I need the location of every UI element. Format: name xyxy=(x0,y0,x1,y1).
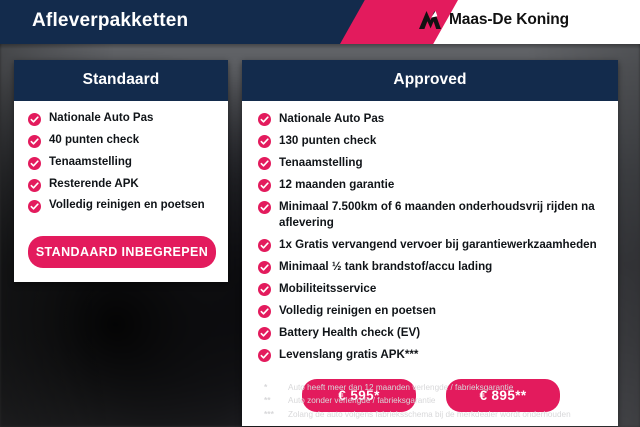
approved-feature-item: 1x Gratis vervangend vervoer bij garanti… xyxy=(258,237,604,253)
footnote-row: *Auto heeft meer dan 12 maanden verlengd… xyxy=(264,382,624,393)
approved-feature-item: 130 punten check xyxy=(258,133,604,149)
footnote-text: Zolang de auto volgens fabrieksschema bi… xyxy=(288,410,571,420)
standaard-feature-list: Nationale Auto Pas40 punten checkTenaams… xyxy=(28,111,216,214)
check-circle-icon xyxy=(258,261,271,274)
approved-feature-item-label: Levenslang gratis APK*** xyxy=(279,347,418,363)
check-circle-icon xyxy=(28,200,41,213)
footnote-marker: * xyxy=(264,382,288,392)
check-circle-icon xyxy=(258,135,271,148)
approved-feature-item-label: Battery Health check (EV) xyxy=(279,325,420,341)
check-circle-icon xyxy=(258,349,271,362)
approved-feature-item-label: Tenaamstelling xyxy=(279,155,363,171)
footnote-row: ***Zolang de auto volgens fabrieksschema… xyxy=(264,409,624,420)
approved-feature-item: Battery Health check (EV) xyxy=(258,325,604,341)
check-circle-icon xyxy=(258,201,271,214)
approved-feature-item: Mobiliteitsservice xyxy=(258,281,604,297)
standaard-feature-item-label: Resterende APK xyxy=(49,177,139,193)
check-circle-icon xyxy=(28,179,41,192)
check-circle-icon xyxy=(258,113,271,126)
banner-shadow xyxy=(0,44,640,49)
approved-feature-item-label: Volledig reinigen en poetsen xyxy=(279,303,436,319)
footnote-text: Auto zonder verlengde / fabrieksgarantie xyxy=(288,396,435,406)
standaard-card-body: Nationale Auto Pas40 punten checkTenaams… xyxy=(14,101,228,282)
brand-name: Maas-De Koning xyxy=(449,11,569,29)
footnote-text: Auto heeft meer dan 12 maanden verlengde… xyxy=(288,383,513,393)
approved-card: Approved Nationale Auto Pas130 punten ch… xyxy=(242,60,618,426)
check-circle-icon xyxy=(258,157,271,170)
standaard-feature-item-label: 40 punten check xyxy=(49,133,139,149)
standaard-feature-item-label: Tenaamstelling xyxy=(49,155,132,171)
approved-feature-item: Tenaamstelling xyxy=(258,155,604,171)
approved-feature-item-label: 1x Gratis vervangend vervoer bij garanti… xyxy=(279,237,597,253)
approved-feature-item: Minimaal ½ tank brandstof/accu lading xyxy=(258,259,604,275)
approved-card-body: Nationale Auto Pas130 punten checkTenaam… xyxy=(242,101,618,426)
check-circle-icon xyxy=(258,239,271,252)
approved-card-heading: Approved xyxy=(242,60,618,101)
approved-feature-item: Levenslang gratis APK*** xyxy=(258,347,604,363)
approved-feature-item-label: Nationale Auto Pas xyxy=(279,111,384,127)
check-circle-icon xyxy=(258,179,271,192)
check-circle-icon xyxy=(28,135,41,148)
brand-logo: Maas-De Koning xyxy=(418,9,569,31)
standaard-inbegrepen-button[interactable]: STANDAARD INBEGREPEN xyxy=(28,236,216,268)
page-title: Afleverpakketten xyxy=(32,10,188,32)
standaard-feature-item: 40 punten check xyxy=(28,133,216,149)
standaard-feature-item: Tenaamstelling xyxy=(28,155,216,171)
check-circle-icon xyxy=(28,157,41,170)
standaard-feature-item: Volledig reinigen en poetsen xyxy=(28,198,216,214)
footnote-marker: ** xyxy=(264,395,288,405)
check-circle-icon xyxy=(258,327,271,340)
check-circle-icon xyxy=(258,283,271,296)
check-circle-icon xyxy=(28,113,41,126)
footnote-row: **Auto zonder verlengde / fabrieksgarant… xyxy=(264,395,624,406)
standaard-card: Standaard Nationale Auto Pas40 punten ch… xyxy=(14,60,228,282)
approved-feature-item-label: Minimaal 7.500km of 6 maanden onderhouds… xyxy=(279,199,604,231)
approved-feature-item-label: 130 punten check xyxy=(279,133,376,149)
afleverpakketten-page: Afleverpakketten Maas-De Koning Standaar… xyxy=(0,0,640,427)
standaard-card-heading: Standaard xyxy=(14,60,228,101)
approved-feature-item: Minimaal 7.500km of 6 maanden onderhouds… xyxy=(258,199,604,231)
approved-feature-item: Volledig reinigen en poetsen xyxy=(258,303,604,319)
standaard-feature-item-label: Nationale Auto Pas xyxy=(49,111,153,127)
footnote-marker: *** xyxy=(264,409,288,419)
page-banner: Afleverpakketten Maas-De Koning xyxy=(0,0,640,44)
standaard-feature-item: Resterende APK xyxy=(28,177,216,193)
maas-de-koning-m-mark-icon xyxy=(418,9,442,31)
approved-feature-item: 12 maanden garantie xyxy=(258,177,604,193)
standaard-feature-item-label: Volledig reinigen en poetsen xyxy=(49,198,205,214)
approved-feature-item-label: 12 maanden garantie xyxy=(279,177,394,193)
check-circle-icon xyxy=(258,305,271,318)
approved-feature-list: Nationale Auto Pas130 punten checkTenaam… xyxy=(258,111,604,363)
standaard-feature-item: Nationale Auto Pas xyxy=(28,111,216,127)
approved-feature-item-label: Minimaal ½ tank brandstof/accu lading xyxy=(279,259,492,275)
footnotes: *Auto heeft meer dan 12 maanden verlengd… xyxy=(264,382,624,422)
approved-feature-item: Nationale Auto Pas xyxy=(258,111,604,127)
approved-feature-item-label: Mobiliteitsservice xyxy=(279,281,376,297)
